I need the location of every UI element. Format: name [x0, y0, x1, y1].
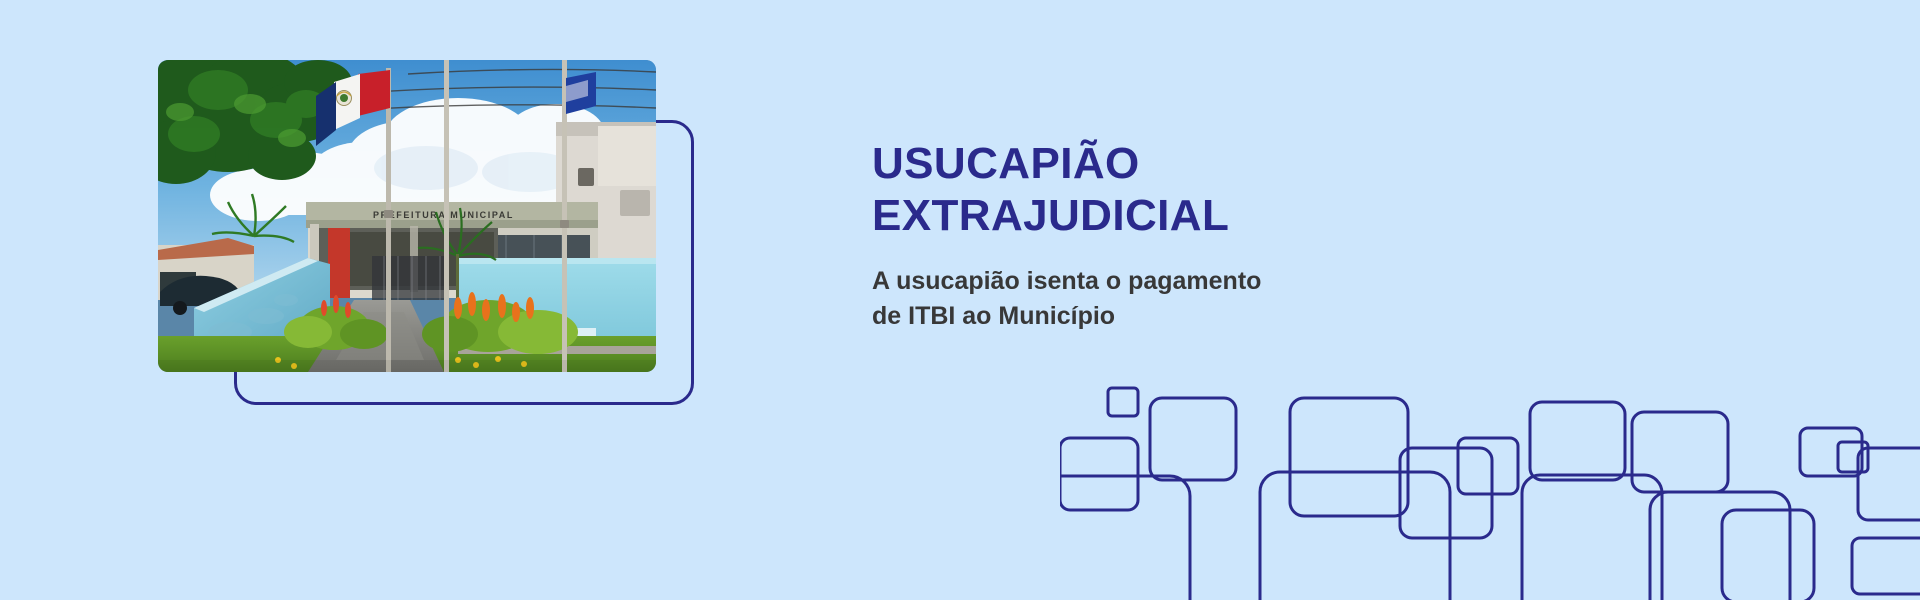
page-title: USUCAPIÃO EXTRAJUDICIAL: [872, 138, 1492, 242]
usucapiao-banner: PREFEITURA MUNICIPAL: [0, 0, 1920, 600]
subtitle-line-2: de ITBI ao Município: [872, 299, 1492, 335]
page-subtitle: A usucapião isenta o pagamento de ITBI a…: [872, 264, 1492, 335]
decorative-rounded-squares: [1060, 320, 1920, 600]
prefeitura-municipal-photo: PREFEITURA MUNICIPAL: [158, 60, 656, 372]
subtitle-line-1: A usucapião isenta o pagamento: [872, 264, 1492, 300]
headline-line-1: USUCAPIÃO: [872, 138, 1492, 190]
text-block: USUCAPIÃO EXTRAJUDICIAL A usucapião isen…: [872, 138, 1492, 335]
svg-text:PREFEITURA MUNICIPAL: PREFEITURA MUNICIPAL: [373, 210, 514, 220]
headline-line-2: EXTRAJUDICIAL: [872, 190, 1492, 242]
photo-media-block: PREFEITURA MUNICIPAL: [158, 60, 698, 410]
